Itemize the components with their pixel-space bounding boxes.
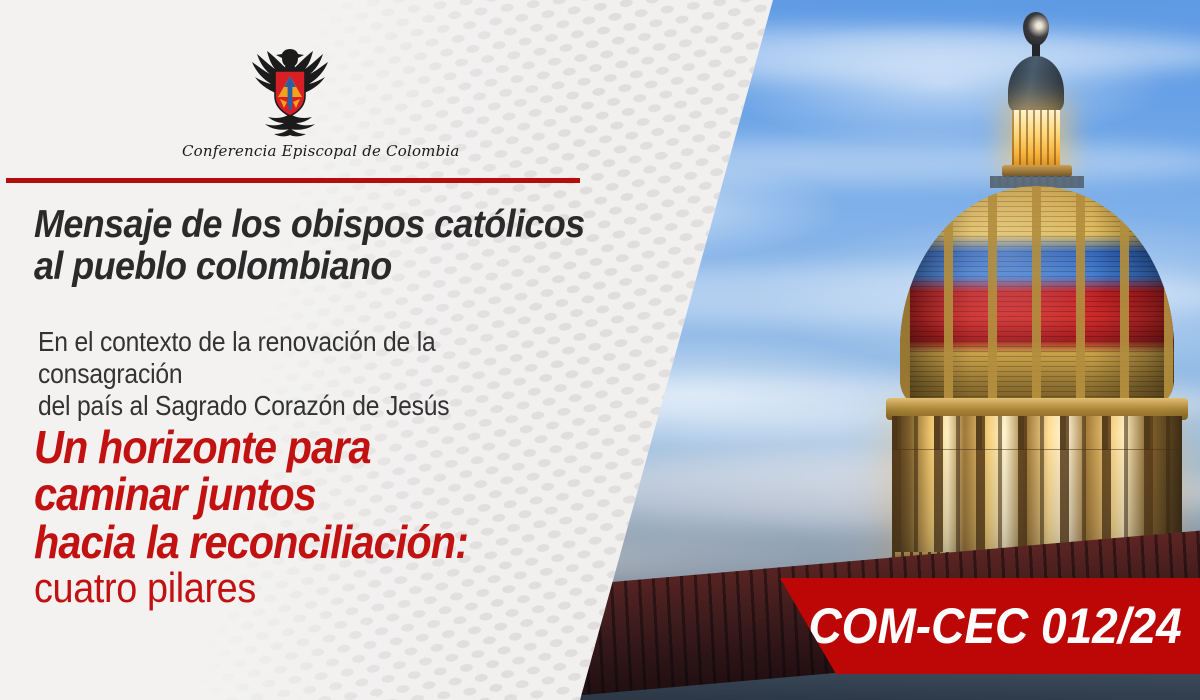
document-code-text: COM-CEC 012/24 (809, 601, 1182, 651)
drum-arches (892, 416, 1182, 450)
headline-line-4: cuatro pilares (34, 566, 574, 609)
poster-canvas: Conferencia Episcopal de Colombia Mensaj… (0, 0, 1200, 700)
kicker-line-1: Mensaje de los obispos católicos (34, 204, 586, 246)
red-divider-rule (6, 178, 580, 183)
subtitle-line-1: En el contexto de la renovación de la co… (38, 326, 584, 390)
headline-line-3: hacia la reconciliación: (34, 519, 574, 566)
coat-of-arms-icon (244, 40, 336, 140)
headline-line-1: Un horizonte para (34, 424, 574, 471)
kicker-line-2: al pueblo colombiano (34, 246, 586, 288)
dome-shading (900, 186, 1174, 406)
colombian-flag-dome (900, 186, 1174, 406)
document-code-banner: COM-CEC 012/24 (770, 578, 1200, 674)
logo-block: Conferencia Episcopal de Colombia (182, 40, 398, 160)
subtitle-text: En el contexto de la renovación de la co… (38, 326, 584, 422)
headline-line-2: caminar juntos (34, 471, 574, 518)
main-headline: Un horizonte para caminar juntos hacia l… (34, 424, 574, 609)
illuminated-lantern (1012, 110, 1060, 168)
subtitle-line-2: del país al Sagrado Corazón de Jesús (38, 390, 584, 422)
logo-caption: Conferencia Episcopal de Colombia (182, 142, 398, 160)
kicker-title: Mensaje de los obispos católicos al pueb… (34, 204, 586, 288)
